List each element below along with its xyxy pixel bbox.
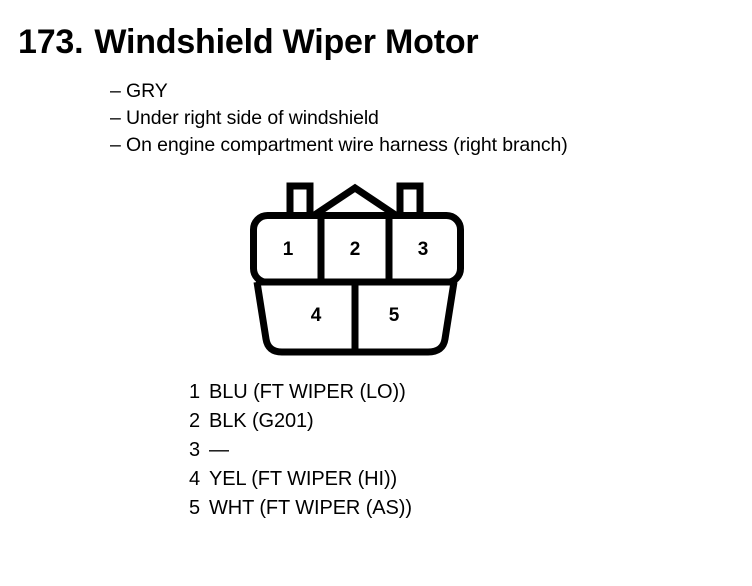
pin-legend-row: 4 YEL (FT WIPER (HI)) <box>178 465 598 494</box>
pin-description: YEL (FT WIPER (HI)) <box>209 465 397 494</box>
description-line-color-text: GRY <box>126 80 168 102</box>
cavity-label-1: 1 <box>283 239 294 260</box>
description-line-location-text: Under right side of windshield <box>126 107 379 129</box>
page-canvas: 173.Windshield Wiper Motor –GRY –Under r… <box>0 0 752 586</box>
connector-diagram: 1 2 3 4 5 <box>232 175 482 365</box>
pin-legend-row: 3 — <box>178 436 598 465</box>
pin-description: WHT (FT WIPER (AS)) <box>209 494 412 523</box>
cavity-label-2: 2 <box>350 239 361 260</box>
pin-description: — <box>209 436 229 465</box>
description-list: –GRY –Under right side of windshield –On… <box>110 78 730 159</box>
cavity-label-4: 4 <box>311 305 322 326</box>
description-line-harness-text: On engine compartment wire harness (righ… <box>126 134 568 156</box>
pin-number: 2 <box>178 407 200 436</box>
pin-legend-row: 2 BLK (G201) <box>178 407 598 436</box>
page-title-number: 173. <box>18 23 83 61</box>
description-line-harness: –On engine compartment wire harness (rig… <box>110 132 730 159</box>
page-title-text: Windshield Wiper Motor <box>94 23 478 61</box>
pin-number: 4 <box>178 465 200 494</box>
page-title: 173.Windshield Wiper Motor <box>18 22 478 62</box>
connector-svg: 1 2 3 4 5 <box>232 175 482 365</box>
pin-number: 5 <box>178 494 200 523</box>
pin-legend-row: 1 BLU (FT WIPER (LO)) <box>178 378 598 407</box>
pin-legend-row: 5 WHT (FT WIPER (AS)) <box>178 494 598 523</box>
cavity-label-5: 5 <box>389 305 400 326</box>
dash-bullet-icon: – <box>110 132 126 159</box>
pin-number: 1 <box>178 378 200 407</box>
pin-description: BLK (G201) <box>209 407 314 436</box>
dash-bullet-icon: – <box>110 105 126 132</box>
pin-legend: 1 BLU (FT WIPER (LO)) 2 BLK (G201) 3 — 4… <box>178 378 598 523</box>
dash-bullet-icon: – <box>110 78 126 105</box>
cavity-label-3: 3 <box>418 239 429 260</box>
description-line-color: –GRY <box>110 78 730 105</box>
pin-description: BLU (FT WIPER (LO)) <box>209 378 406 407</box>
description-line-location: –Under right side of windshield <box>110 105 730 132</box>
pin-number: 3 <box>178 436 200 465</box>
